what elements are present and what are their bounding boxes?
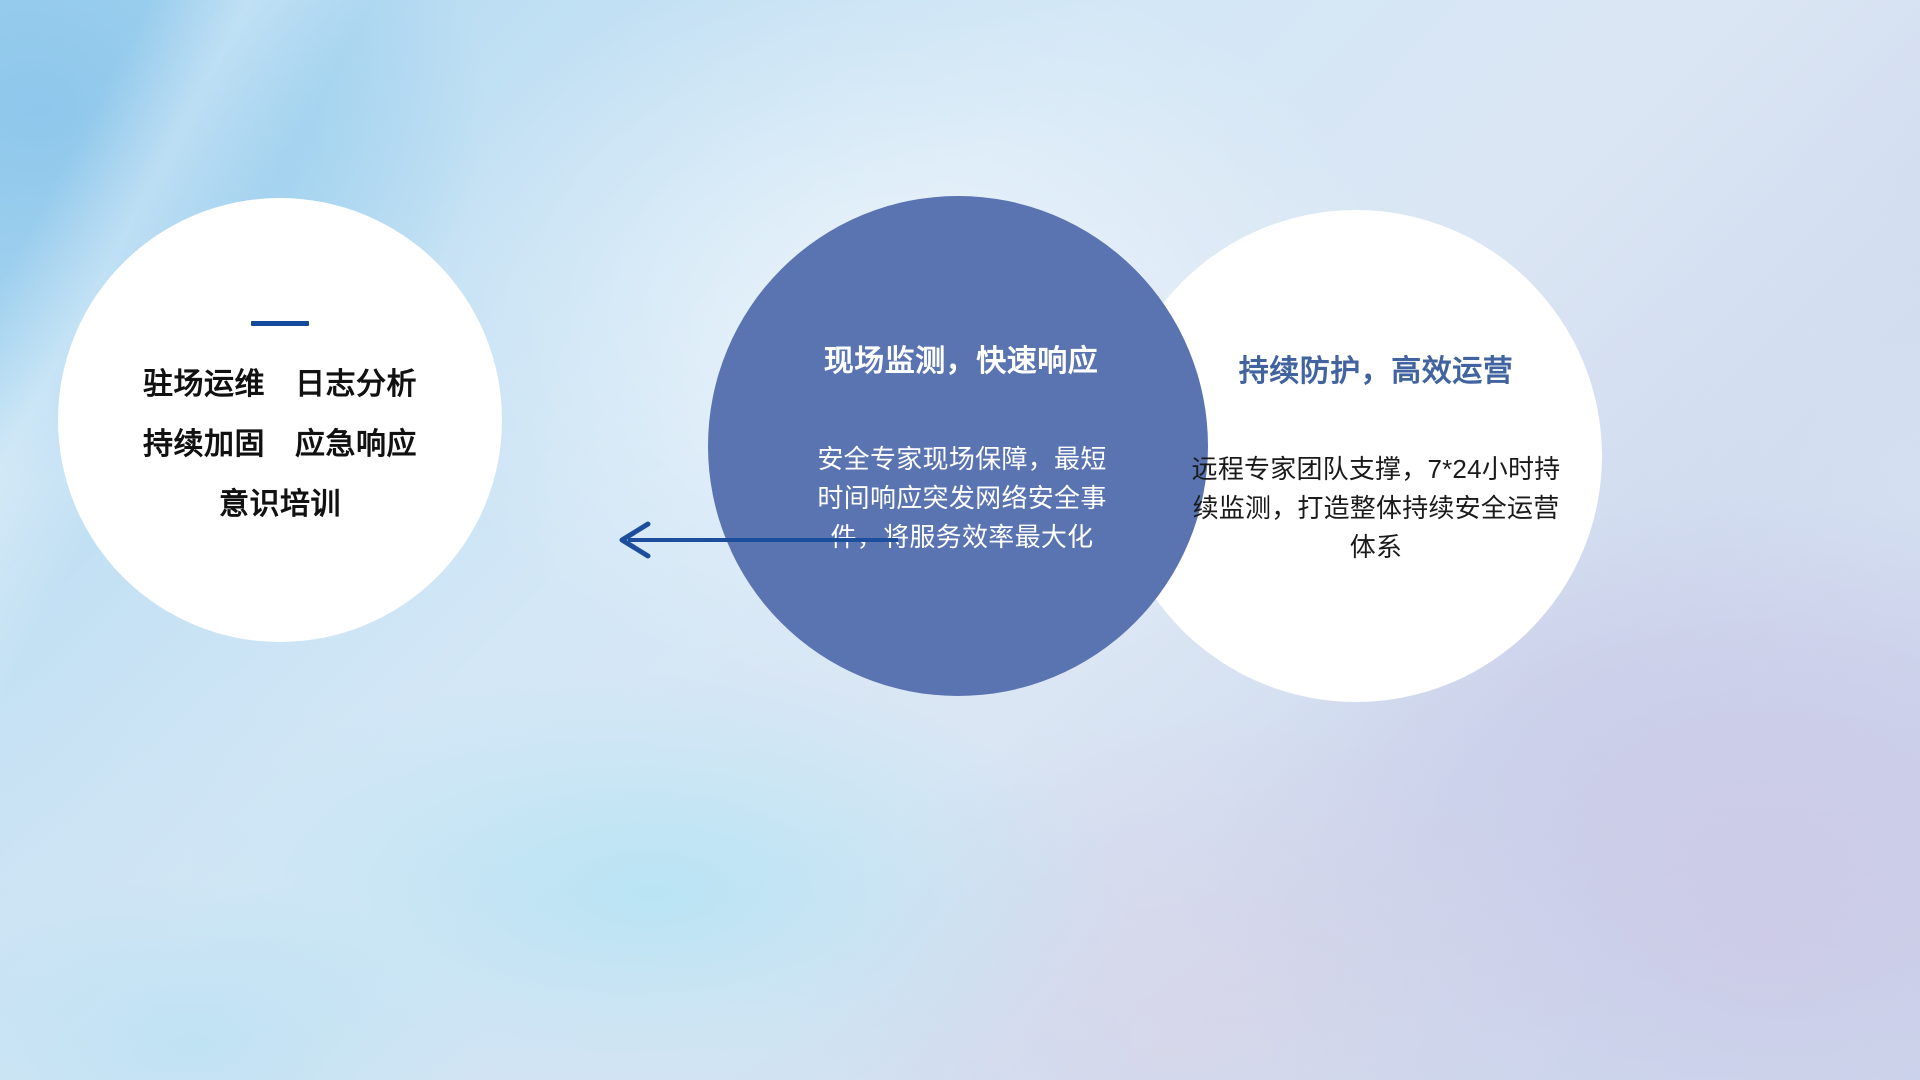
capability-label: 意识培训 (219, 490, 341, 520)
arrow-left-icon (608, 512, 898, 568)
middle-circle-shape (708, 196, 1208, 696)
left-capability-row: 持续加固 应急响应 (143, 430, 417, 460)
capability-label: 驻场运维 (143, 370, 265, 400)
left-capability-row-final: 意识培训 (219, 490, 341, 520)
divider-dash-icon (251, 321, 309, 326)
capability-label: 持续加固 (143, 430, 265, 460)
capability-label: 日志分析 (295, 370, 417, 400)
left-circle-content: 驻场运维 日志分析 持续加固 应急响应 意识培训 (58, 198, 502, 642)
left-capability-row: 驻场运维 日志分析 (143, 370, 417, 400)
capability-label: 应急响应 (295, 430, 417, 460)
